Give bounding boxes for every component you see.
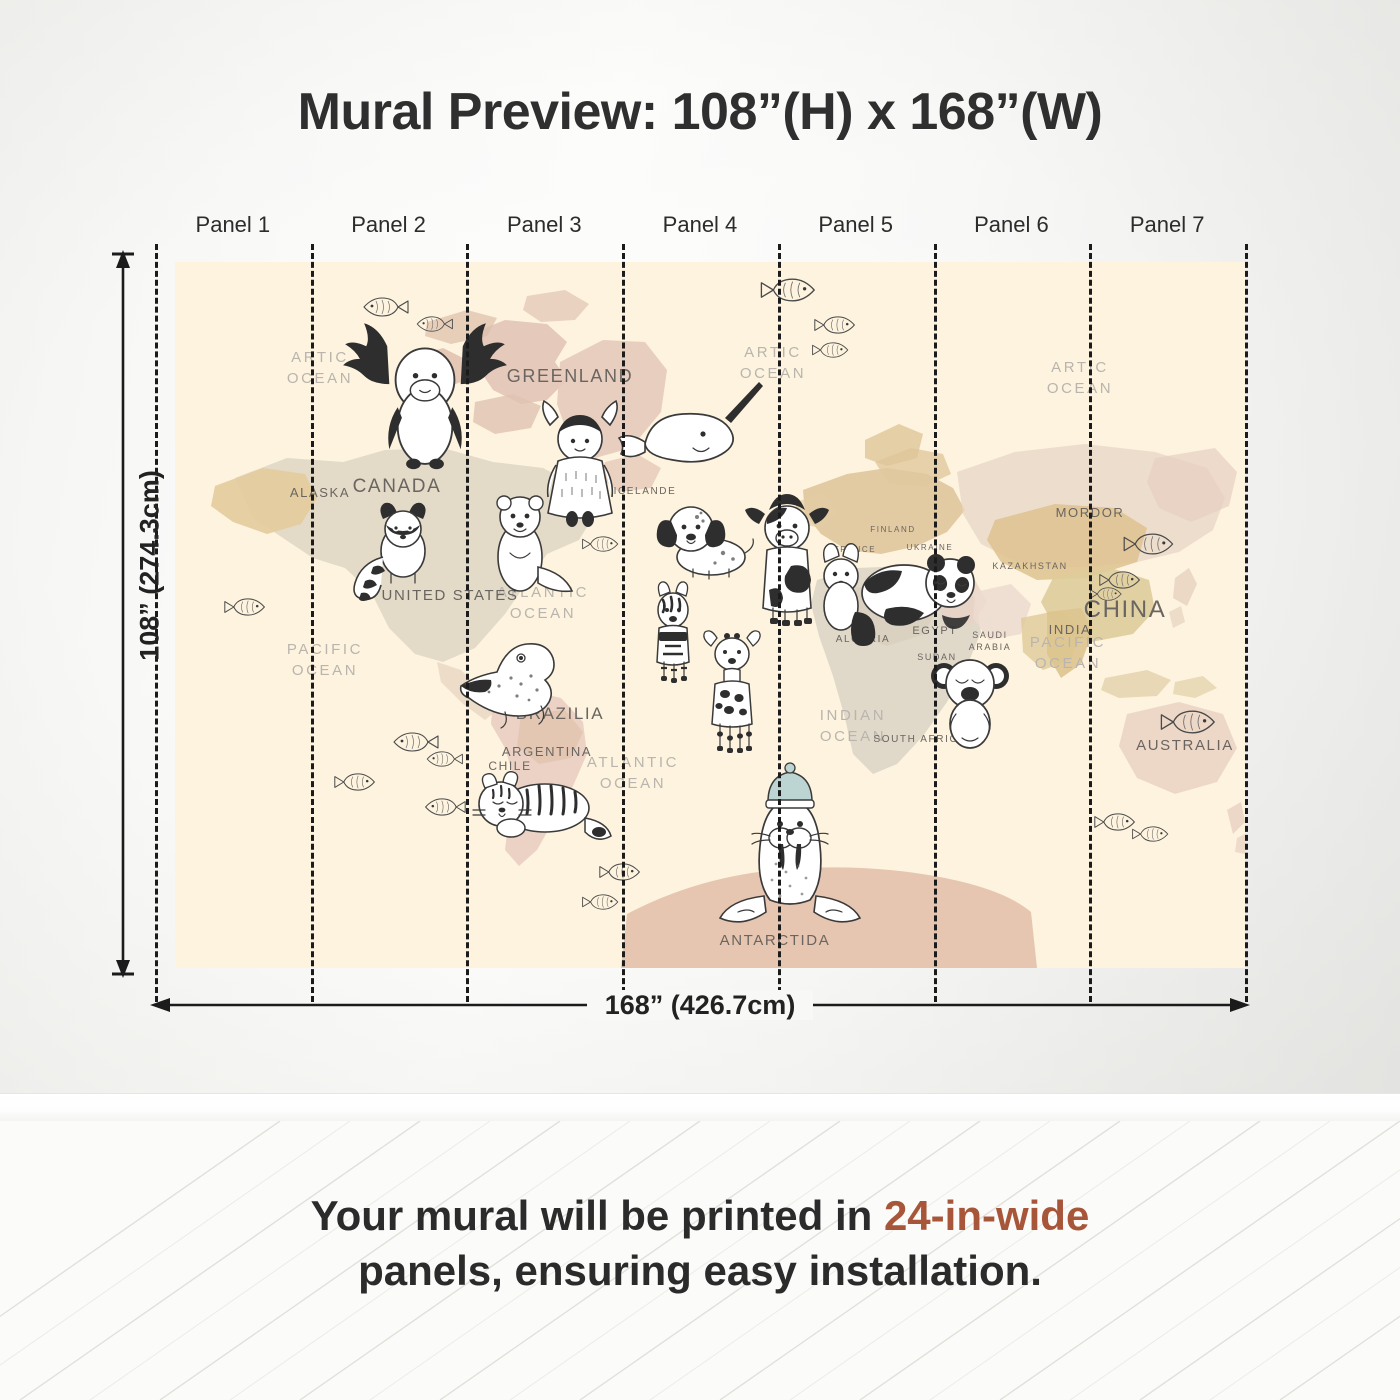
panel-label-7: Panel 7 [1089,212,1245,238]
panel-label-row: Panel 1Panel 2Panel 3Panel 4Panel 5Panel… [155,212,1245,246]
map-label-argentina: ARGENTINA [502,744,592,759]
width-dimension: 168” (426.7cm) [150,990,1250,1040]
caption-accent: 24-in-wide [884,1192,1089,1239]
panel-label-6: Panel 6 [934,212,1090,238]
mural-preview-screenshot: Mural Preview: 108”(H) x 168”(W) Panel 1… [0,0,1400,1400]
panel-label-2: Panel 2 [311,212,467,238]
page-title: Mural Preview: 108”(H) x 168”(W) [0,82,1400,142]
map-label-kazakhstan: KAZAKHSTAN [992,561,1067,571]
height-dimension: 108” (274.3cm) [98,250,158,978]
mural-artwork: .lbl { font-family:"Liberation Sans",san… [175,262,1245,968]
map-label-icelande: ICELANDE [614,486,677,497]
map-label-greenland: GREENLAND [507,366,633,386]
map-label-ukraine: UKRAINE [907,543,954,552]
map-label-finland: FINLAND [870,525,915,534]
map-label-sudan: SUDAN [917,652,957,662]
height-dimension-label: 108” (274.3cm) [135,286,166,846]
width-dimension-label: 168” (426.7cm) [150,990,1250,1021]
map-label-alaska: ALASKA [290,485,350,500]
map-label-united-states: UNITED STATES [382,587,519,604]
map-label-chile: CHILE [488,759,531,773]
map-label-australia: AUSTRALIA [1136,737,1234,754]
panel-label-3: Panel 3 [466,212,622,238]
caption-line1-pre: Your mural will be printed in [311,1192,884,1239]
map-label-antarctida: ANTARCTIDA [720,932,831,949]
panel-label-1: Panel 1 [155,212,311,238]
panel-label-4: Panel 4 [622,212,778,238]
panel-label-5: Panel 5 [778,212,934,238]
baseboard [0,1093,1400,1121]
map-label-china: CHINA [1084,596,1167,623]
caption-line2: panels, ensuring easy installation. [358,1247,1042,1294]
map-label-mordor: MORDOR [1056,505,1125,520]
footer-caption: Your mural will be printed in 24-in-wide… [0,1188,1400,1299]
map-label-india: INDIA [1049,622,1092,637]
map-label-canada: CANADA [353,476,442,497]
